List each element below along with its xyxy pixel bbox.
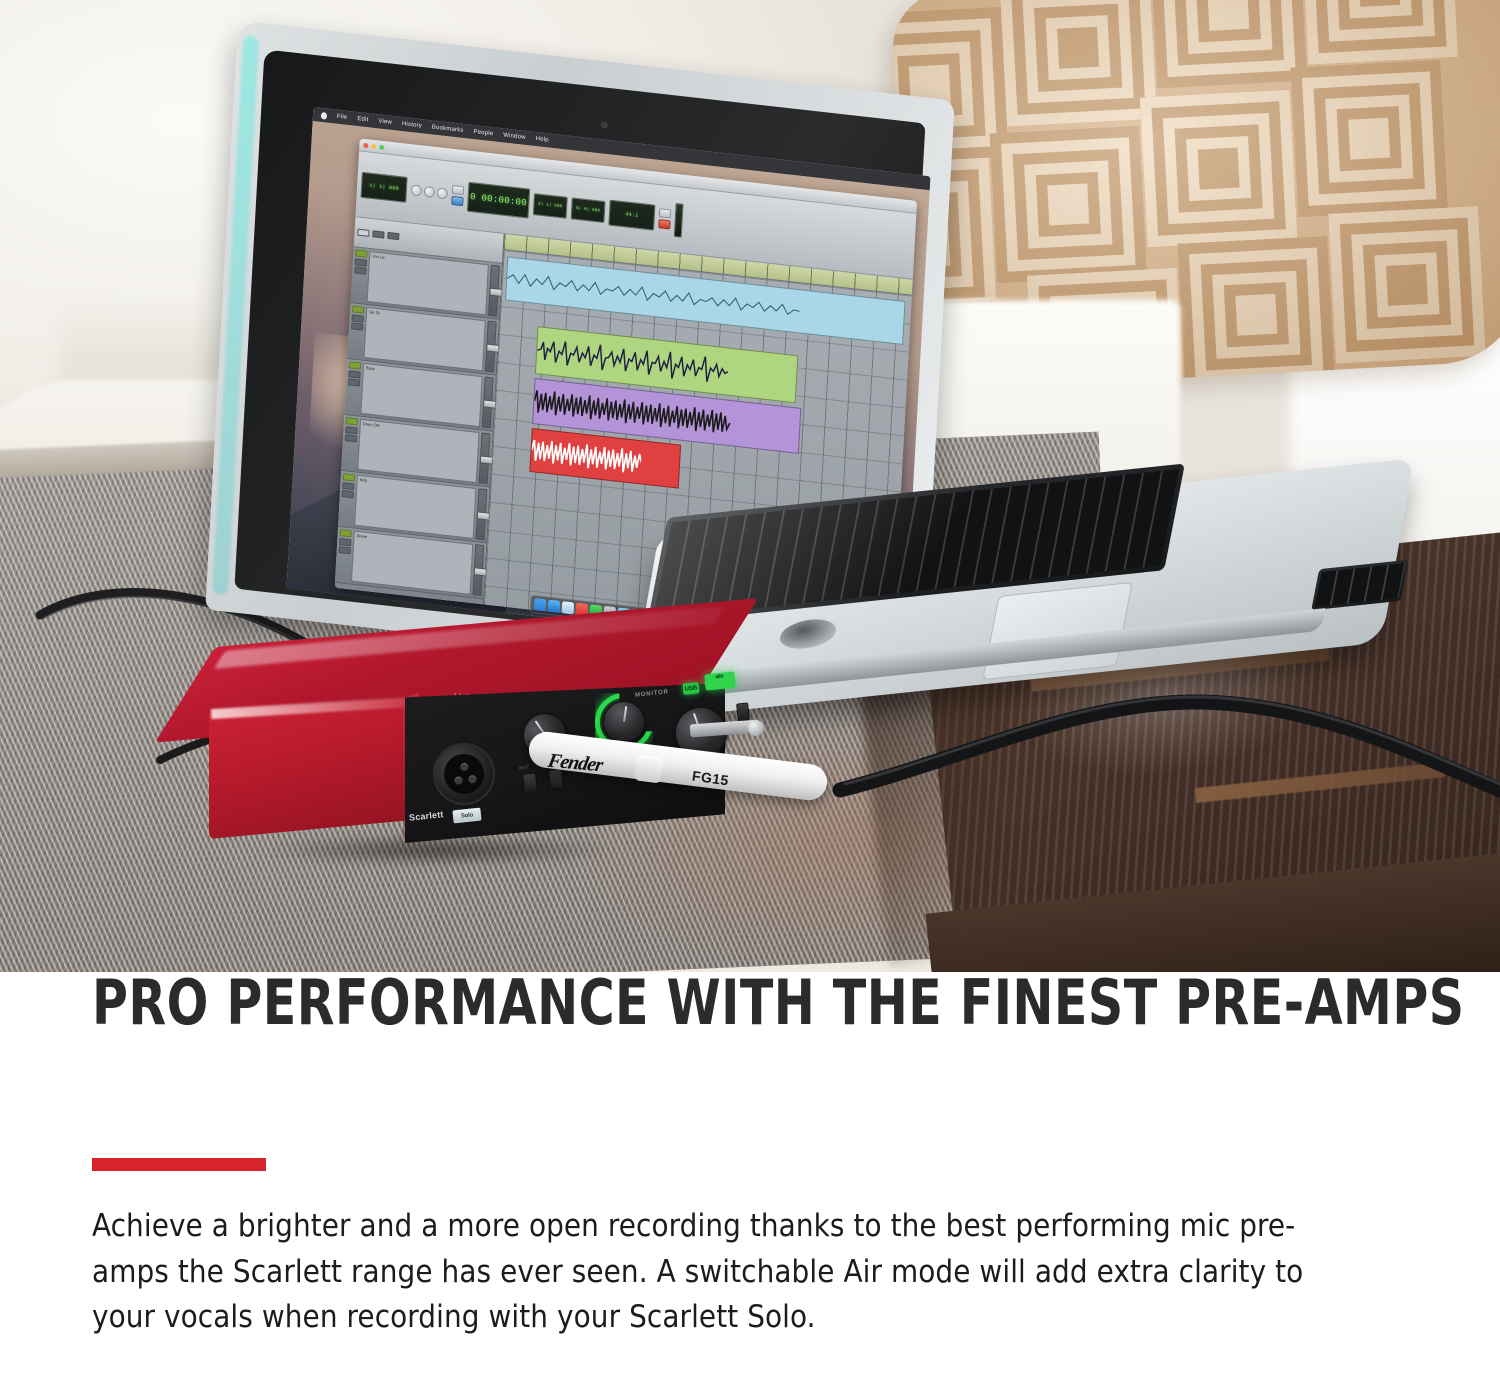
track-fader[interactable]	[472, 544, 484, 596]
slip-mode-button[interactable]	[372, 230, 384, 238]
accent-divider	[92, 1158, 266, 1171]
safari-icon[interactable]	[548, 600, 561, 613]
zoom-icon[interactable]	[379, 144, 384, 150]
track-fader[interactable]	[479, 432, 491, 484]
record-button-group[interactable]	[658, 208, 671, 229]
marketing-copy-section: PRO PERFORMANCE WITH THE FINEST PRE-AMPS…	[0, 972, 1500, 1389]
mute-button[interactable]	[342, 490, 354, 498]
mute-button[interactable]	[339, 546, 351, 554]
solo-button[interactable]	[355, 258, 367, 266]
menu-item-view[interactable]: View	[378, 118, 392, 126]
fender-logo: Fender	[546, 750, 604, 777]
transport-button-group[interactable]	[451, 184, 464, 205]
description-paragraph: Achieve a brighter and a more open recor…	[92, 1204, 1342, 1341]
knob-indicator	[623, 706, 627, 722]
track-name[interactable]: Drum OH	[357, 419, 479, 483]
main-timecode-display: 0 00:00:00	[467, 181, 530, 218]
fender-cable-collar	[635, 755, 664, 784]
solo-button[interactable]	[348, 370, 360, 378]
menu-item-window[interactable]: Window	[503, 132, 526, 141]
solo-button[interactable]	[345, 426, 357, 434]
phantom-power-led[interactable]: 48V	[704, 671, 736, 690]
track-name[interactable]: Snare	[351, 531, 473, 595]
record-arm-button[interactable]	[346, 417, 358, 425]
track-fader[interactable]	[485, 321, 497, 373]
mute-button[interactable]	[351, 322, 363, 330]
transport-knob[interactable]	[411, 184, 423, 196]
xlr-pin	[468, 775, 477, 784]
spot-mode-button[interactable]	[387, 232, 399, 240]
mail-icon[interactable]	[562, 601, 575, 614]
track-name[interactable]: Vox Ld	[367, 251, 489, 315]
close-icon[interactable]	[363, 142, 368, 148]
mute-button[interactable]	[345, 434, 357, 442]
record-arm-button[interactable]	[340, 529, 352, 537]
record-arm-button[interactable]	[349, 361, 361, 369]
grid-mode-button[interactable]	[357, 229, 369, 237]
solo-button[interactable]	[339, 537, 351, 545]
track-name[interactable]: Bass	[360, 363, 482, 427]
session-rate-display: 44.1	[608, 199, 655, 230]
mute-button[interactable]	[354, 266, 366, 274]
record-arm-button[interactable]	[355, 249, 367, 257]
menu-item-help[interactable]: Help	[535, 136, 548, 143]
menu-item-file[interactable]: File	[337, 114, 348, 121]
track-fader[interactable]	[488, 265, 500, 317]
output-meter	[674, 202, 684, 237]
page-title: PRO PERFORMANCE WITH THE FINEST PRE-AMPS	[92, 972, 1465, 1034]
apple-logo-icon[interactable]	[321, 111, 327, 119]
end-counter: 8| 0| 000	[571, 197, 606, 223]
inst-label: INST	[519, 764, 530, 770]
track-name[interactable]: Kick	[354, 475, 476, 539]
xlr-pin	[460, 763, 469, 772]
play-button[interactable]	[451, 195, 463, 205]
webcam-icon	[601, 121, 608, 129]
record-arm-button[interactable]	[352, 305, 364, 313]
menu-item-edit[interactable]: Edit	[357, 116, 368, 123]
loop-button[interactable]	[659, 208, 671, 218]
product-hero-photo: File Edit View History Bookmarks People …	[0, 0, 1500, 972]
transport-knobs[interactable]	[411, 184, 448, 199]
solo-button[interactable]	[342, 482, 354, 490]
minimize-icon[interactable]	[371, 143, 376, 149]
rewind-button[interactable]	[452, 184, 464, 194]
waveform	[531, 435, 642, 477]
menu-item-bookmarks[interactable]: Bookmarks	[432, 124, 464, 134]
solo-button[interactable]	[352, 314, 364, 322]
menu-item-history[interactable]: History	[402, 121, 422, 129]
start-counter: 9| 1| 000	[533, 193, 568, 219]
mute-button[interactable]	[348, 378, 360, 386]
xlr-pin	[454, 776, 463, 785]
usb-led-icon: USB	[682, 682, 699, 695]
phantom-switch[interactable]	[736, 702, 750, 721]
finder-icon[interactable]	[534, 598, 547, 611]
menu-item-people[interactable]: People	[473, 129, 493, 137]
record-arm-button[interactable]	[343, 473, 355, 481]
track-fader[interactable]	[482, 376, 494, 428]
interface-left-side	[209, 697, 421, 839]
track-name[interactable]: Gtr DI	[364, 307, 486, 371]
track-fader[interactable]	[476, 488, 488, 540]
transport-mini-display: 1| 1| 000	[360, 171, 407, 202]
record-button[interactable]	[658, 219, 670, 229]
inst-switch[interactable]	[522, 772, 538, 793]
xlr-inner	[442, 752, 485, 795]
transport-knob[interactable]	[437, 187, 449, 199]
transport-knob[interactable]	[424, 186, 436, 198]
track-header-column[interactable]: Vox Ld Gtr DI	[335, 217, 505, 604]
laptop: File Edit View History Bookmarks People …	[210, 60, 1410, 700]
